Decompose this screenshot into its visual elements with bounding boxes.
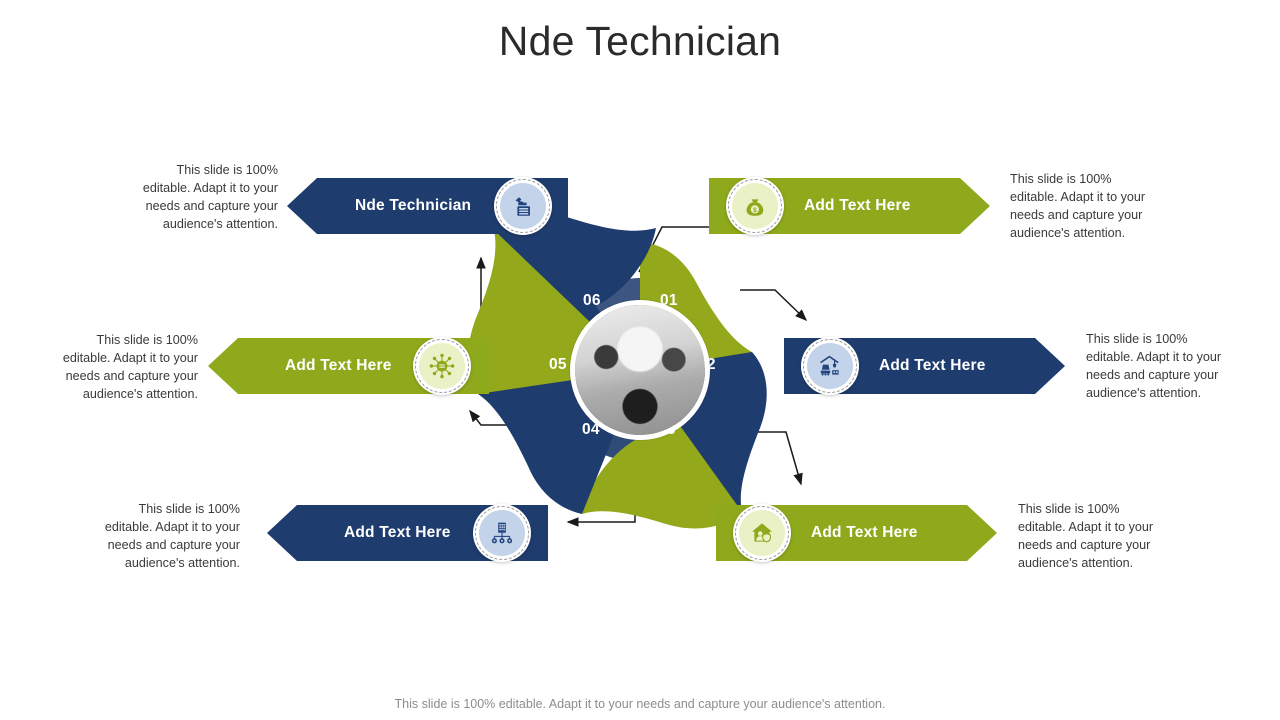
item-label-01: Add Text Here <box>804 178 911 234</box>
item-description-02: This slide is 100% editable. Adapt it to… <box>1086 331 1236 403</box>
item-description-04: This slide is 100% editable. Adapt it to… <box>90 501 240 573</box>
item-label-05: Add Text Here <box>285 338 392 394</box>
item-label-06: Nde Technician <box>355 178 471 234</box>
item-icon-badge-05[interactable] <box>413 337 471 395</box>
item-icon-badge-06[interactable] <box>494 177 552 235</box>
item-icon-badge-02[interactable] <box>801 337 859 395</box>
organization-chart-icon <box>488 519 516 547</box>
network-hub-icon <box>428 352 456 380</box>
icon-disc <box>479 510 525 556</box>
home-security-icon <box>748 519 776 547</box>
item-row-05: This slide is 100% editable. Adapt it to… <box>0 338 600 394</box>
item-description-01: This slide is 100% editable. Adapt it to… <box>1010 171 1160 243</box>
icon-disc <box>500 183 546 229</box>
money-bag-icon: $ <box>742 193 768 219</box>
item-label-04: Add Text Here <box>344 505 451 561</box>
svg-text:$: $ <box>753 207 757 214</box>
item-label-02: Add Text Here <box>879 338 986 394</box>
item-description-03: This slide is 100% editable. Adapt it to… <box>1018 501 1168 573</box>
icon-disc: $ <box>732 183 778 229</box>
hand-ballot-vote-icon <box>510 193 536 219</box>
item-description-05: This slide is 100% editable. Adapt it to… <box>48 332 198 404</box>
item-label-03: Add Text Here <box>811 505 918 561</box>
item-icon-badge-01[interactable]: $ <box>726 177 784 235</box>
item-row-02: Add Text Here This slide <box>680 338 1280 394</box>
slide-footer: This slide is 100% editable. Adapt it to… <box>0 697 1280 711</box>
item-row-06: This slide is 100% editable. Adapt it to… <box>0 178 600 234</box>
item-row-04: This slide is 100% editable. Adapt it to… <box>0 505 600 561</box>
slide-canvas: Nde Technician <box>0 0 1280 720</box>
item-icon-badge-03[interactable] <box>733 504 791 562</box>
item-row-03: Add Text Here This slide is 100% editabl… <box>680 505 1280 561</box>
item-icon-badge-04[interactable] <box>473 504 531 562</box>
item-description-06: This slide is 100% editable. Adapt it to… <box>128 162 278 234</box>
construction-crane-icon <box>816 352 844 380</box>
icon-disc <box>419 343 465 389</box>
item-row-01: Add Text Here $ This slide is 100% edita… <box>680 178 1280 234</box>
icon-disc <box>807 343 853 389</box>
page-title: Nde Technician <box>0 18 1280 65</box>
icon-disc <box>739 510 785 556</box>
